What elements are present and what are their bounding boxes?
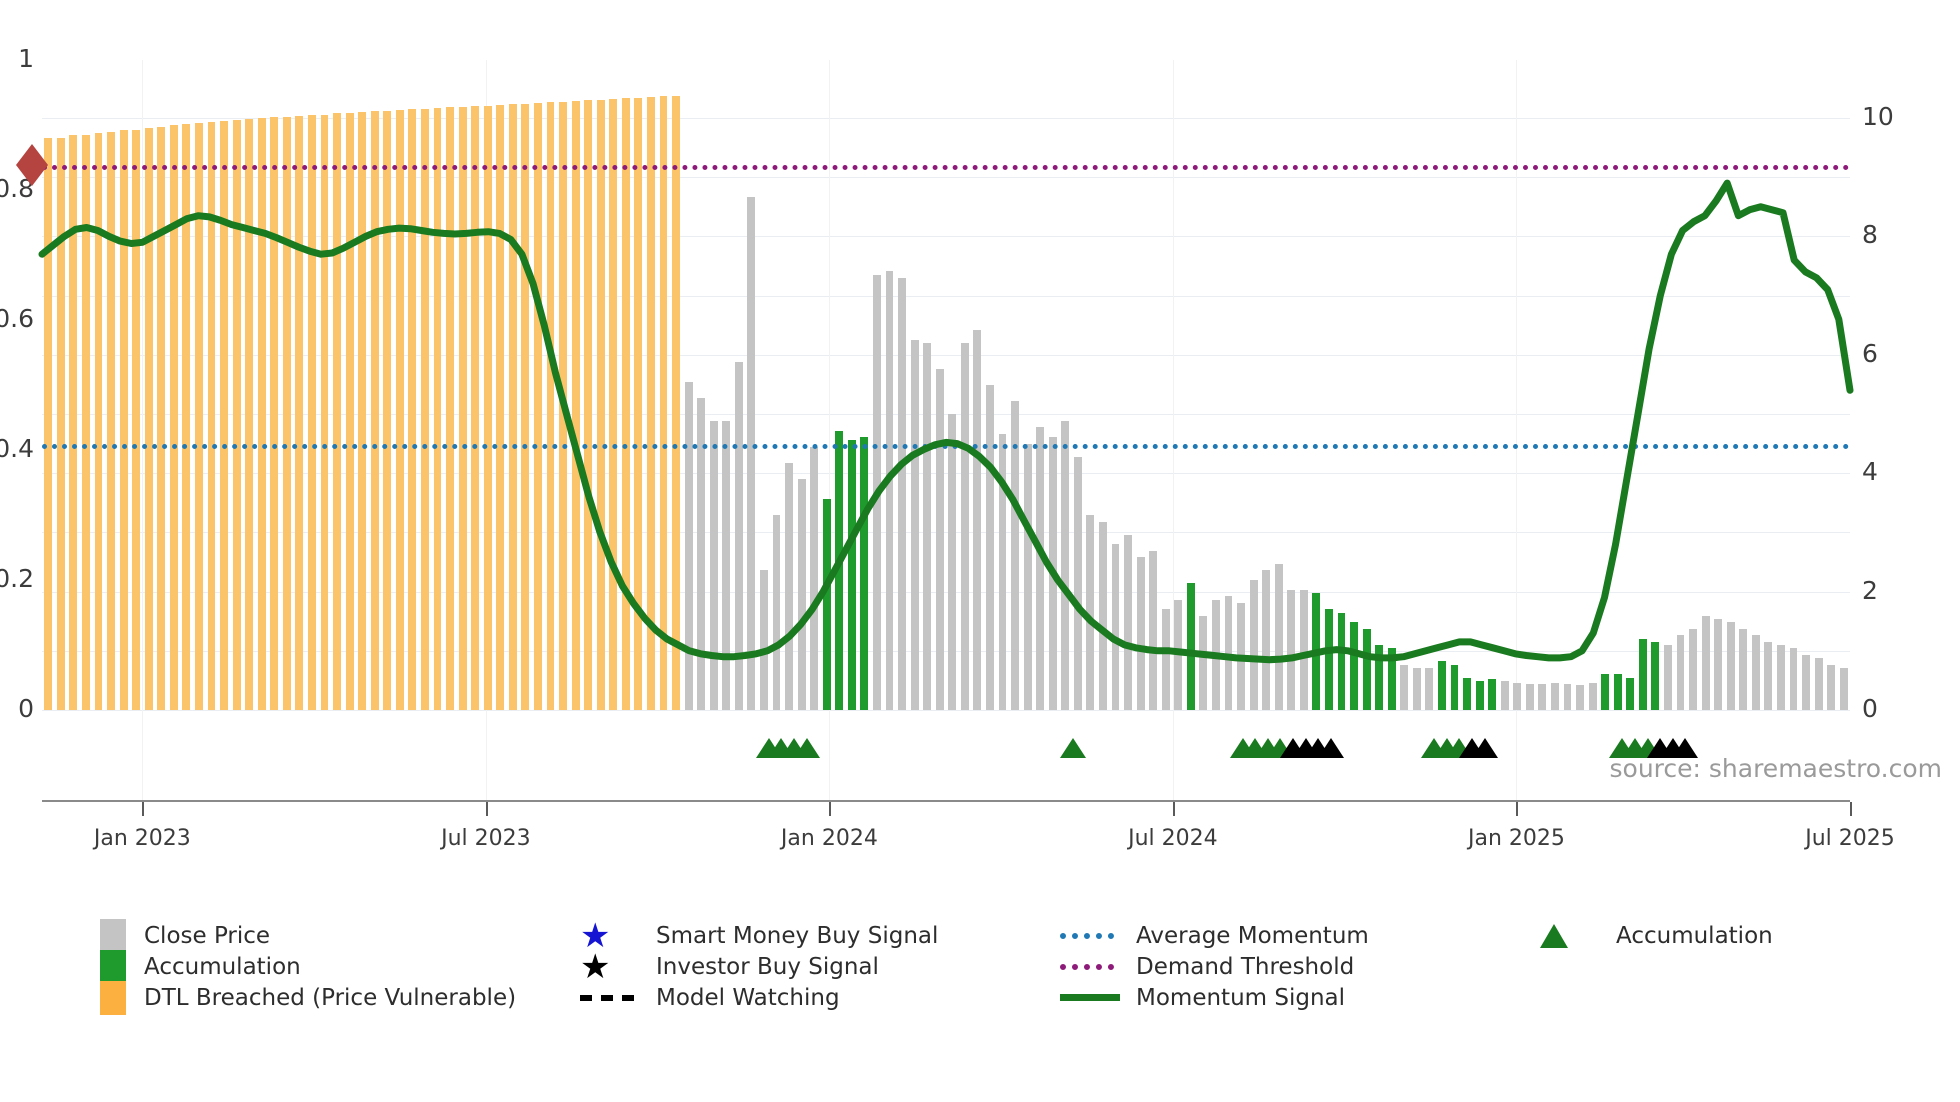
x-axis-tick-label: Jan 2025 [1468, 826, 1565, 851]
plot-area [42, 60, 1850, 710]
momentum-signal-line-icon [1060, 994, 1122, 1001]
x-axis-tick-label: Jan 2024 [781, 826, 878, 851]
accumulation-triangle-icon [794, 738, 820, 758]
left-axis-tick: 0 [18, 694, 34, 723]
x-axis-tick-label: Jan 2023 [94, 826, 191, 851]
legend-label: Average Momentum [1136, 923, 1369, 949]
legend-row: Close Price★Smart Money Buy SignalAverag… [100, 920, 1940, 951]
x-axis-tickmark [1850, 802, 1852, 816]
source-attribution: source: sharemaestro.com [1610, 754, 1943, 783]
legend-label: Accumulation [144, 954, 301, 980]
right-axis-tick: 4 [1862, 457, 1878, 486]
legend-label: Close Price [144, 923, 270, 949]
legend-row: Accumulation★Investor Buy SignalDemand T… [100, 951, 1940, 982]
dtl-breached-swatch-icon [100, 981, 126, 1015]
legend-item[interactable]: Accumulation [1540, 917, 1773, 955]
right-axis-tick: 8 [1862, 220, 1878, 249]
momentum-signal-line [42, 60, 1850, 710]
average-momentum-dot-icon [1060, 933, 1122, 939]
x-axis-tick-label: Jul 2025 [1805, 826, 1895, 851]
right-axis-tick: 0 [1862, 694, 1878, 723]
legend-label: Model Watching [656, 985, 840, 1011]
legend-label: Momentum Signal [1136, 985, 1345, 1011]
investor-buy-marker-mirror [16, 144, 32, 186]
chart-legend: Close Price★Smart Money Buy SignalAverag… [100, 920, 1940, 1013]
legend-label: DTL Breached (Price Vulnerable) [144, 985, 516, 1011]
x-axis-tickmark [829, 802, 831, 816]
x-axis-tick-label: Jul 2023 [441, 826, 531, 851]
legend-label: Accumulation [1616, 923, 1773, 949]
chart-root: 10.80.60.40.20 1086420 Jan 2023Jul 2023J… [0, 0, 1960, 1102]
x-axis-tickmark [1173, 802, 1175, 816]
investor-buy-triangle-icon [1318, 738, 1344, 758]
accumulation-triangle-icon [1060, 738, 1086, 758]
investor-buy-triangle-icon [1472, 738, 1498, 758]
accumulation-triangle-legend-icon [1540, 924, 1602, 948]
gridline [42, 710, 1850, 711]
legend-item[interactable]: Model Watching [580, 979, 840, 1017]
left-axis-tick: 0.2 [0, 564, 34, 593]
legend-label: Demand Threshold [1136, 954, 1354, 980]
legend-label: Smart Money Buy Signal [656, 923, 938, 949]
model-watching-dash-icon [580, 995, 642, 1001]
left-axis-tick: 0.6 [0, 304, 34, 333]
x-axis-tick-label: Jul 2024 [1128, 826, 1218, 851]
x-axis-tickmark [486, 802, 488, 816]
legend-row: DTL Breached (Price Vulnerable)Model Wat… [100, 982, 1940, 1013]
legend-item[interactable]: Momentum Signal [1060, 979, 1345, 1017]
right-axis-tick: 6 [1862, 339, 1878, 368]
x-axis-tickmark [1516, 802, 1518, 816]
legend-item[interactable]: DTL Breached (Price Vulnerable) [100, 979, 516, 1017]
legend-label: Investor Buy Signal [656, 954, 879, 980]
left-axis-tick: 0.4 [0, 434, 34, 463]
x-axis-line [42, 800, 1850, 802]
demand-threshold-dot-icon [1060, 964, 1122, 970]
right-axis-tick: 2 [1862, 576, 1878, 605]
investor-buy-marker [32, 144, 48, 186]
x-axis-tickmark [142, 802, 144, 816]
right-axis-tick: 10 [1862, 102, 1894, 131]
left-axis-tick: 1 [18, 44, 34, 73]
